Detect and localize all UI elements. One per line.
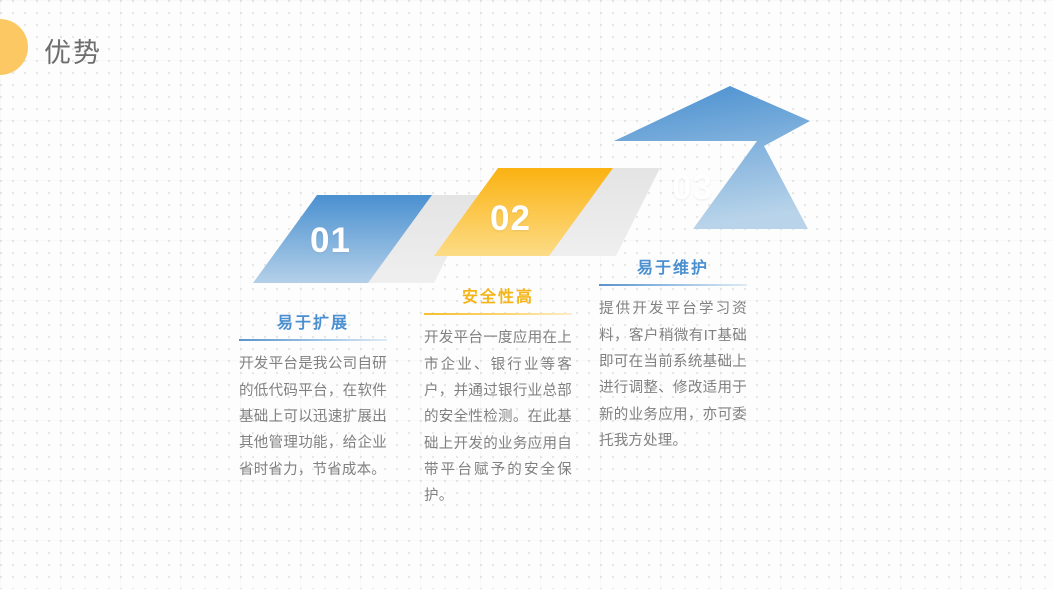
heading-underline-1 [239,339,387,341]
step-text-column-2: 安全性高 开发平台一度应用在上市企业、银行业等客户，并通过银行业总部的安全性检测… [424,288,572,510]
step-body-1: 开发平台是我公司自研的低代码平台，在软件基础上可以迅速扩展出其他管理功能，给企业… [239,351,387,483]
step-heading-2: 安全性高 [424,288,572,307]
step-body-3: 提供开发平台学习资料，客户稍微有IT基础即可在当前系统基础上进行调整、修改适用于… [599,296,747,454]
step-number-03: 03 [672,170,713,205]
step-number-01: 01 [310,223,351,258]
step-text-column-3: 易于维护 提供开发平台学习资料，客户稍微有IT基础即可在当前系统基础上进行调整、… [599,259,747,454]
step-heading-1: 易于扩展 [239,314,387,333]
heading-underline-3 [599,284,747,286]
step-body-2: 开发平台一度应用在上市企业、银行业等客户，并通过银行业总部的安全性检测。在此基础… [424,325,572,510]
step-heading-3: 易于维护 [599,259,747,278]
step-number-02: 02 [490,201,531,236]
page-title: 优势 [44,40,102,67]
step-shape-03-arrow [614,86,810,229]
heading-underline-2 [424,313,572,315]
connector-shape-1 [348,195,478,283]
connector-shape-2 [529,168,660,256]
slide-canvas: 优势 [0,0,1053,589]
step-text-column-1: 易于扩展 开发平台是我公司自研的低代码平台，在软件基础上可以迅速扩展出其他管理功… [239,314,387,483]
header-accent-circle [0,19,28,75]
